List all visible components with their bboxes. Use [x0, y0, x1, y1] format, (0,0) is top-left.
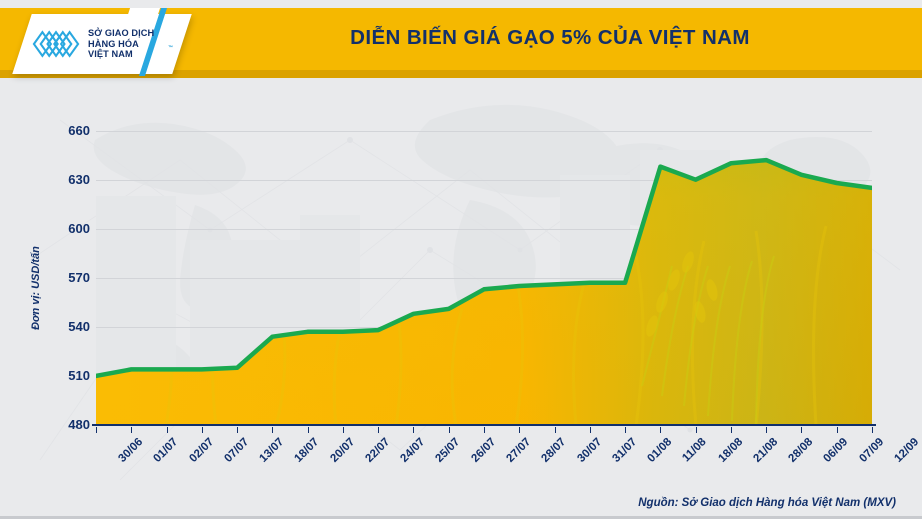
chart-container: Đơn vị: USD/tấn 480510540570600630660 30…: [0, 86, 922, 486]
x-axis-tick: [625, 427, 626, 433]
x-axis-tick: [837, 427, 838, 433]
x-axis-tick: [378, 427, 379, 433]
x-axis-tick: [308, 427, 309, 433]
logo-line-2: HÀNG HÓA: [88, 39, 154, 50]
series-svg: [96, 86, 872, 486]
logo-line-3: VIỆT NAM: [88, 49, 154, 60]
x-axis-tick: [872, 427, 873, 433]
y-axis-tick-label: 630: [38, 172, 90, 187]
source-note: Nguồn: Sở Giao dịch Hàng hóa Việt Nam (M…: [638, 497, 896, 509]
logo-line-1: SỞ GIAO DỊCH: [88, 28, 154, 39]
plot-area: [96, 86, 872, 486]
x-axis-tick: [519, 427, 520, 433]
x-axis-tick: [731, 427, 732, 433]
x-axis-tick: [801, 427, 802, 433]
x-axis-tick: [167, 427, 168, 433]
rice-texture: [96, 86, 872, 486]
x-axis-tick: [555, 427, 556, 433]
header-band: ™ SỞ GIAO DỊCH HÀNG HÓA VIỆT NAM DIỄN BI…: [0, 0, 922, 86]
x-axis-tick-label: 12/09: [892, 436, 921, 465]
y-axis-tick-label: 480: [38, 417, 90, 432]
y-axis-tick-label: 540: [38, 319, 90, 334]
y-axis-tick-label: 570: [38, 270, 90, 285]
y-axis-tick-label: 600: [38, 221, 90, 236]
x-axis-tick: [202, 427, 203, 433]
page-title: DIỄN BIẾN GIÁ GẠO 5% CỦA VIỆT NAM: [200, 26, 900, 50]
mxv-logo-icon: [30, 27, 82, 61]
y-axis-tick-label: 510: [38, 368, 90, 383]
x-axis-tick: [343, 427, 344, 433]
x-axis-tick: [766, 427, 767, 433]
y-axis-tick-label: 660: [38, 123, 90, 138]
x-axis-tick: [449, 427, 450, 433]
x-axis-line: [92, 424, 876, 426]
x-axis-tick: [590, 427, 591, 433]
x-axis-tick: [660, 427, 661, 433]
trademark-icon: ™: [168, 45, 173, 51]
x-axis-tick: [131, 427, 132, 433]
x-axis-tick: [237, 427, 238, 433]
x-axis-tick: [484, 427, 485, 433]
x-axis-tick: [272, 427, 273, 433]
x-axis-tick: [696, 427, 697, 433]
x-axis-tick: [96, 427, 97, 433]
x-axis-tick: [413, 427, 414, 433]
logo: ™ SỞ GIAO DỊCH HÀNG HÓA VIỆT NAM: [30, 20, 180, 68]
